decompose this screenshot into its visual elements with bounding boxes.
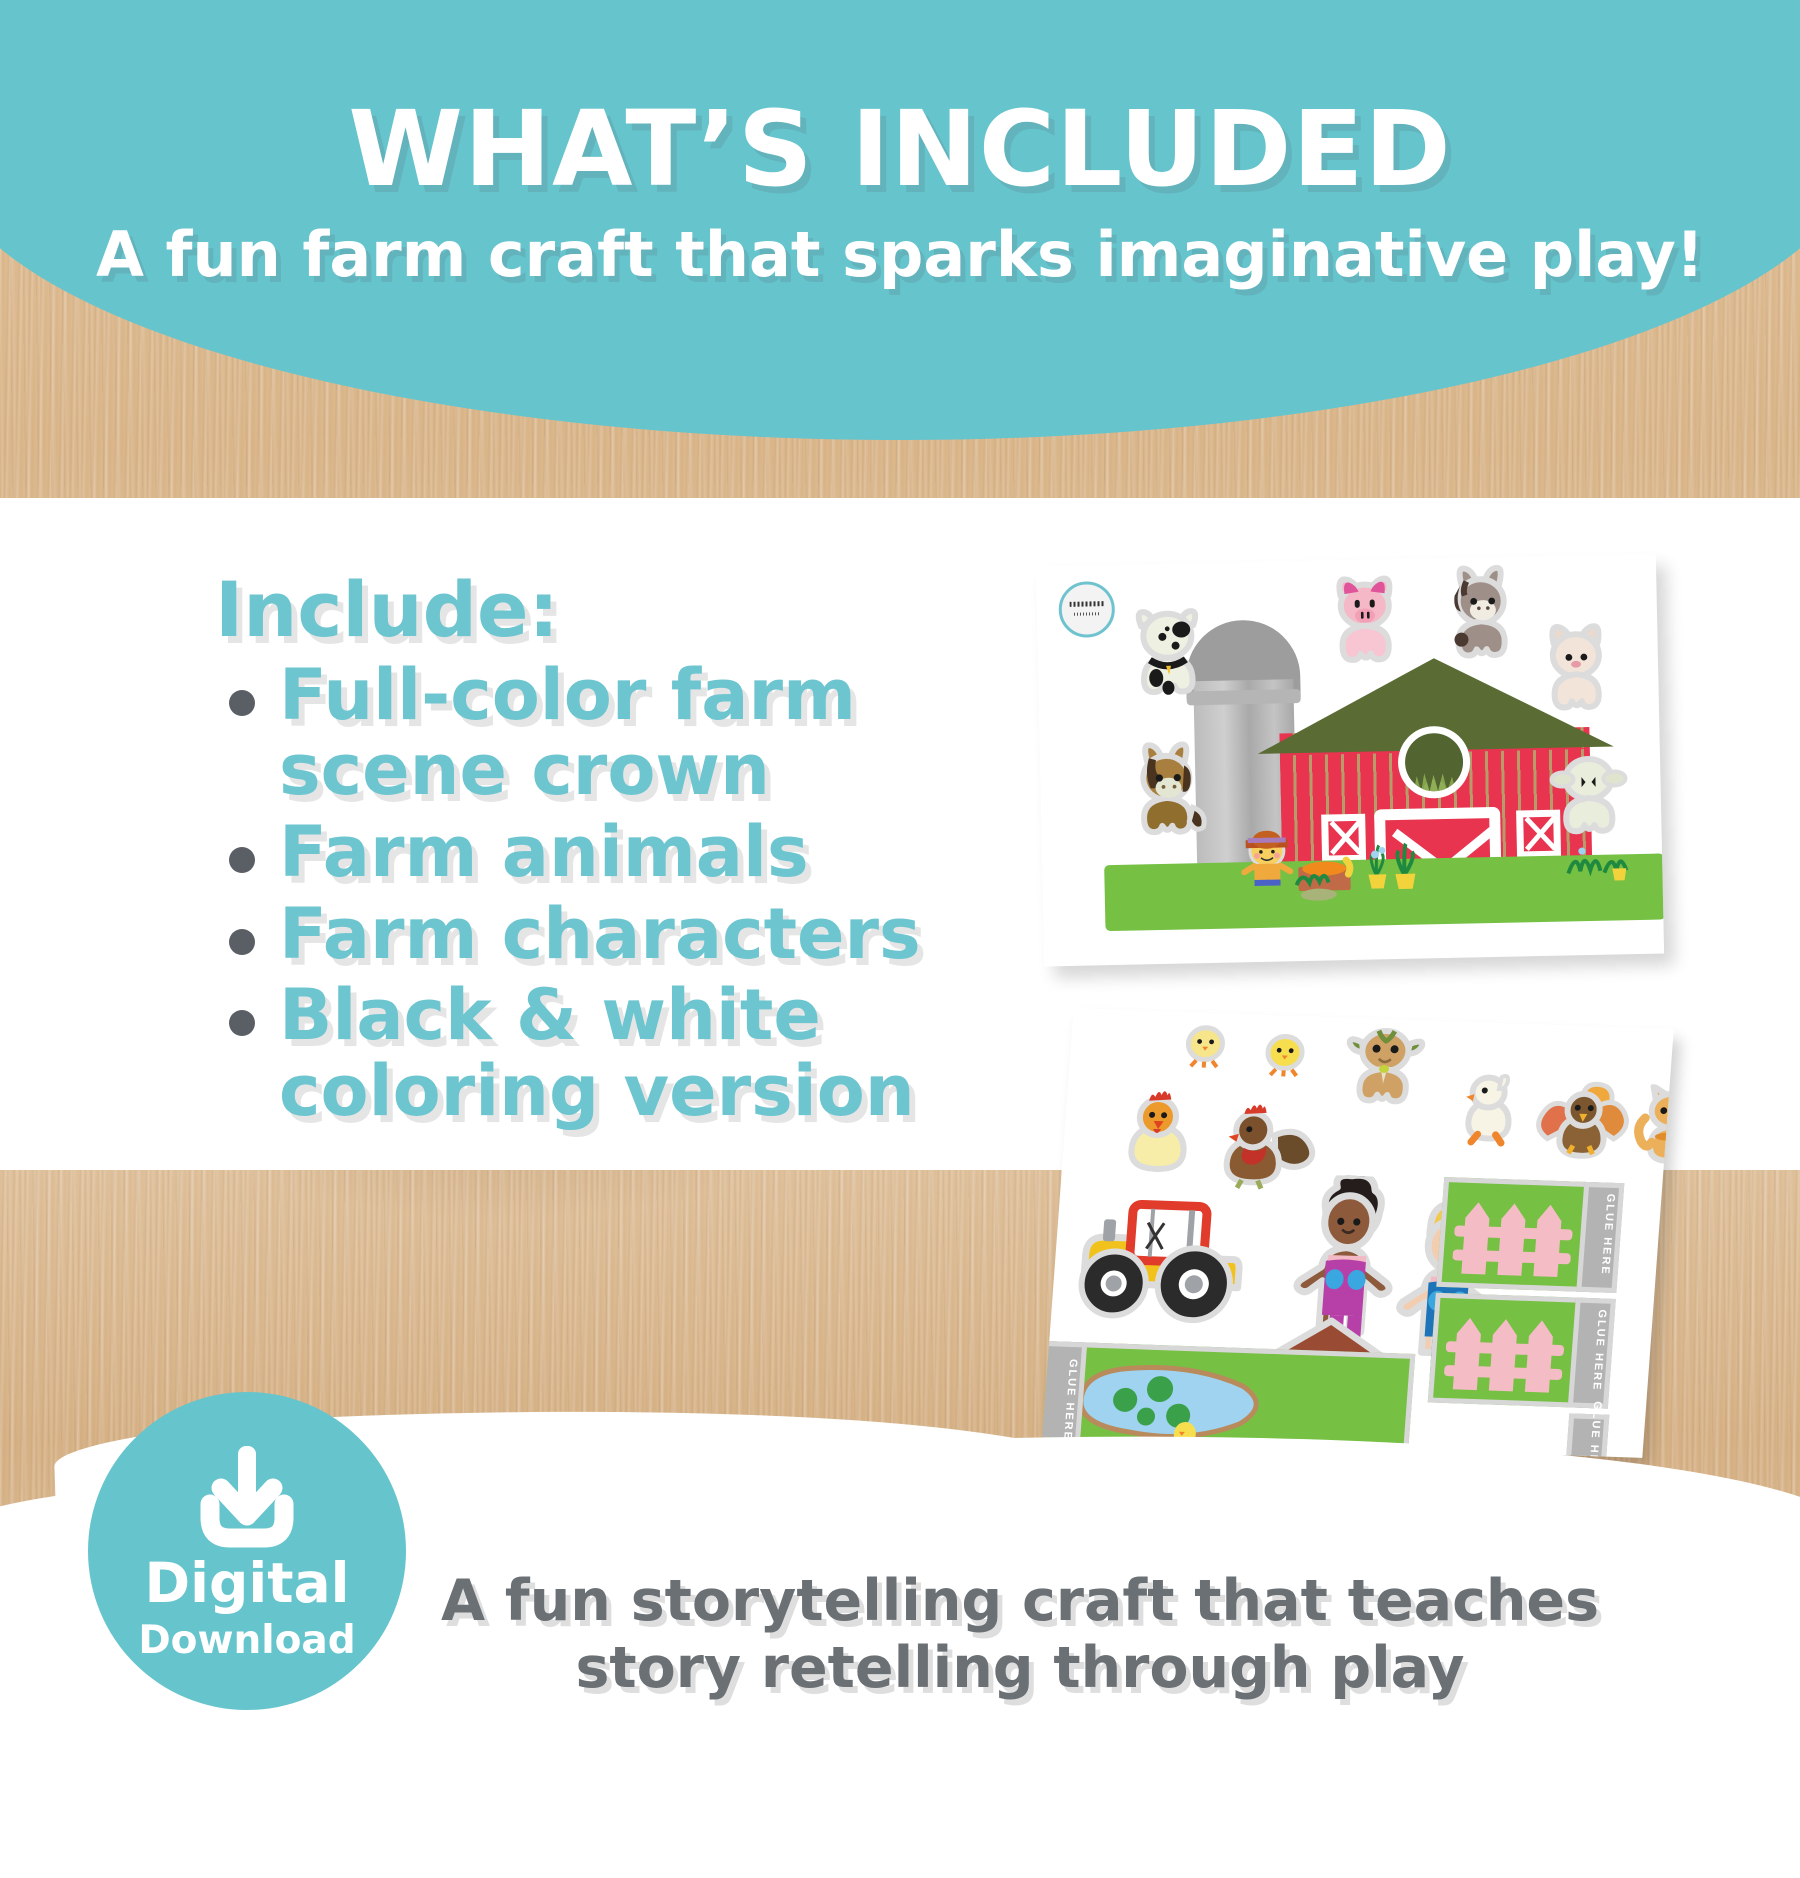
include-list: Full-color farm scene crown Farm animals… (215, 658, 935, 1130)
turkey-sticker (1532, 1074, 1635, 1167)
fence-illustration (1443, 1307, 1567, 1395)
badge-subtitle: Download (138, 1621, 355, 1660)
include-section: Include: Full-color farm scene crown Far… (215, 570, 935, 1135)
grass-tufts (1562, 838, 1639, 886)
bottom-caption: A fun storytelling craft that teaches st… (430, 1568, 1610, 1703)
duck-sticker (1452, 1066, 1530, 1152)
list-item: Farm animals (215, 815, 935, 891)
hen-sticker (1114, 1084, 1204, 1175)
donkey-sticker (1440, 564, 1522, 664)
cow-sticker (1125, 603, 1211, 701)
horse-sticker (1126, 741, 1220, 839)
flower-pots (1364, 840, 1427, 893)
bottom-caption-line1: A fun storytelling craft that teaches (430, 1568, 1610, 1635)
list-item: Farm characters (215, 897, 935, 973)
tractor-sticker (1063, 1180, 1263, 1326)
farm-stickers-image: GLUE HERE GLUE HERE GLUE HERE GLUE HERE (1042, 1008, 1674, 1458)
badge-title: Digital (145, 1556, 350, 1611)
include-heading: Include: (215, 570, 935, 650)
header-banner: WHAT’S INCLUDED A fun farm craft that sp… (0, 0, 1800, 430)
goat-sticker (1339, 1018, 1430, 1113)
digital-download-badge[interactable]: Digital Download (88, 1392, 406, 1710)
glue-tab (1576, 1182, 1624, 1293)
chick-sticker (1177, 1018, 1233, 1076)
list-item: Black & white coloring version (215, 978, 935, 1129)
list-item: Full-color farm scene crown (215, 658, 935, 809)
chick-sticker (1257, 1027, 1313, 1085)
bottom-caption-line2: story retelling through play (430, 1635, 1610, 1702)
glue-tab (1568, 1298, 1616, 1409)
pig-sticker (1324, 571, 1406, 665)
farm-scene-crown-image (1036, 554, 1664, 967)
download-icon (188, 1442, 306, 1550)
sheep-sticker (1548, 744, 1630, 838)
fence-illustration (1451, 1191, 1575, 1279)
page-subtitle: A fun farm craft that sparks imaginative… (0, 218, 1800, 291)
brand-logo-icon (1058, 581, 1115, 638)
hay-crate (1290, 854, 1371, 902)
page-title: WHAT’S INCLUDED (0, 88, 1800, 210)
llama-sticker (1537, 618, 1615, 712)
